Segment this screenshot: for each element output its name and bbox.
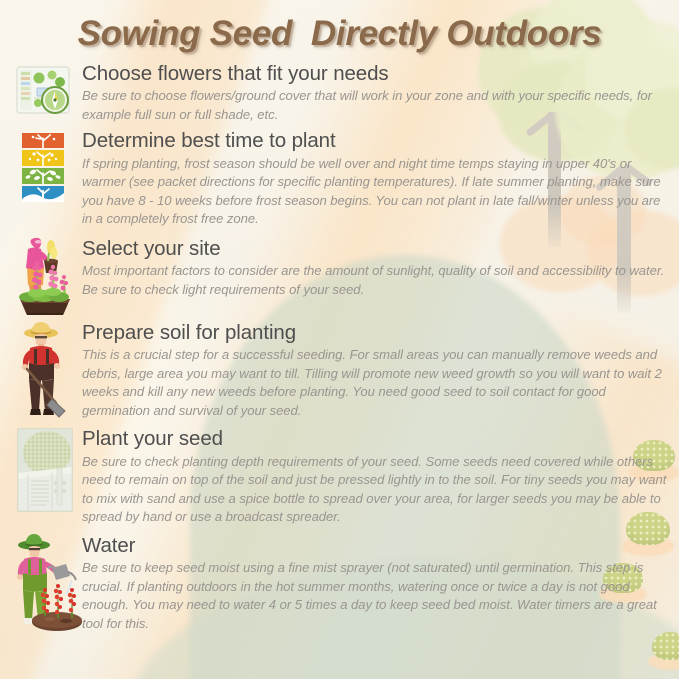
step-title: Determine best time to plant (82, 129, 671, 153)
steps-list: Choose flowers that fit your needs Be su… (0, 62, 679, 633)
planter-box-flowers-icon (8, 235, 80, 315)
gardener-with-shovel-icon (8, 319, 80, 419)
step-title: Select your site (82, 235, 671, 261)
garden-plan-compass-icon (8, 62, 80, 124)
background-shrub (648, 632, 679, 670)
step-title: Choose flowers that fit your needs (82, 62, 671, 86)
step-body: Be sure to check planting depth requirem… (82, 452, 671, 527)
step-item: Select your site Most important factors … (0, 235, 679, 315)
step-text: Plant your seed Be sure to check plantin… (80, 425, 679, 527)
step-body: Most important factors to consider are t… (82, 261, 671, 299)
step-title: Prepare soil for planting (82, 319, 671, 345)
step-item: Determine best time to plant If spring p… (0, 129, 679, 229)
step-body: Be sure to choose flowers/ground cover t… (82, 86, 671, 124)
step-item: Water Be sure to keep seed moist using a… (0, 532, 679, 634)
step-title: Plant your seed (82, 425, 671, 451)
step-body: Be sure to keep seed moist using a fine … (82, 558, 671, 633)
step-text: Water Be sure to keep seed moist using a… (80, 532, 679, 634)
step-title: Water (82, 532, 671, 558)
step-item: Prepare soil for planting This is a cruc… (0, 319, 679, 421)
seed-packet-icon (8, 425, 80, 517)
step-body: If spring planting, frost season should … (82, 154, 671, 229)
infographic-poster: Sowing Seed Directly Outdoors (0, 0, 679, 679)
step-text: Choose flowers that fit your needs Be su… (80, 62, 679, 124)
step-text: Prepare soil for planting This is a cruc… (80, 319, 679, 421)
step-item: Plant your seed Be sure to check plantin… (0, 425, 679, 527)
four-seasons-icon (8, 129, 80, 224)
poster-title: Sowing Seed Directly Outdoors (0, 14, 679, 54)
step-text: Select your site Most important factors … (80, 235, 679, 299)
step-item: Choose flowers that fit your needs Be su… (0, 62, 679, 124)
gardener-watering-icon (8, 532, 80, 632)
step-body: This is a crucial step for a successful … (82, 345, 671, 420)
step-text: Determine best time to plant If spring p… (80, 129, 679, 229)
